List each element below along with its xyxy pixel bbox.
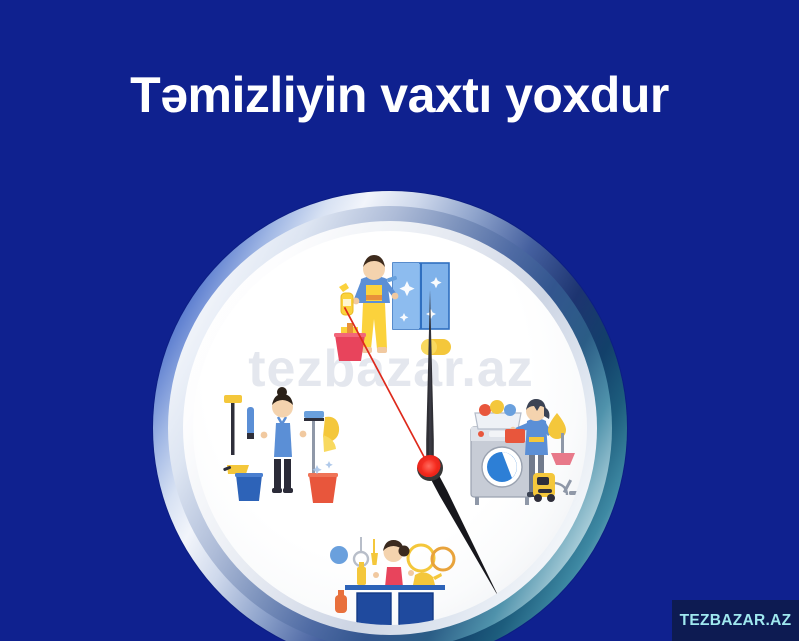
watermark-badge: TEZBAZAR.AZ (672, 600, 799, 641)
hand-brush-icon (563, 479, 581, 495)
utensils-icon (330, 537, 378, 566)
dustpan-icon (223, 465, 249, 474)
cleaner-person (261, 387, 307, 493)
gloves-icon (323, 417, 339, 452)
squeegee-icon (304, 411, 324, 483)
scene-dishwashing (319, 523, 465, 625)
laundry-basket-icon (475, 400, 521, 429)
scene-floor-mopping (221, 383, 346, 513)
counter-top (345, 585, 445, 590)
vacuum-cleaner-icon (533, 473, 567, 502)
cabinet-right (399, 593, 433, 625)
brush-icon (247, 407, 254, 439)
kettle-icon (413, 572, 442, 585)
page-title: Təmizliyin vaxtı yoxdur (0, 66, 799, 124)
clock-illustration: tezbazar.az (153, 191, 627, 641)
mop-tool-icon (224, 395, 242, 455)
clock-hub-center (422, 460, 438, 476)
clock-dial: tezbazar.az (193, 231, 587, 625)
bucket-blue-icon (235, 473, 263, 501)
watermark-label: TEZBAZAR.AZ (680, 612, 792, 630)
cabinet-left (357, 593, 391, 625)
pans-icon (408, 545, 454, 571)
cleaner-bottle-icon (335, 590, 347, 613)
scene-laundry (465, 391, 587, 516)
poster-canvas: Təmizliyin vaxtı yoxdur tezbazar.az (0, 0, 799, 641)
